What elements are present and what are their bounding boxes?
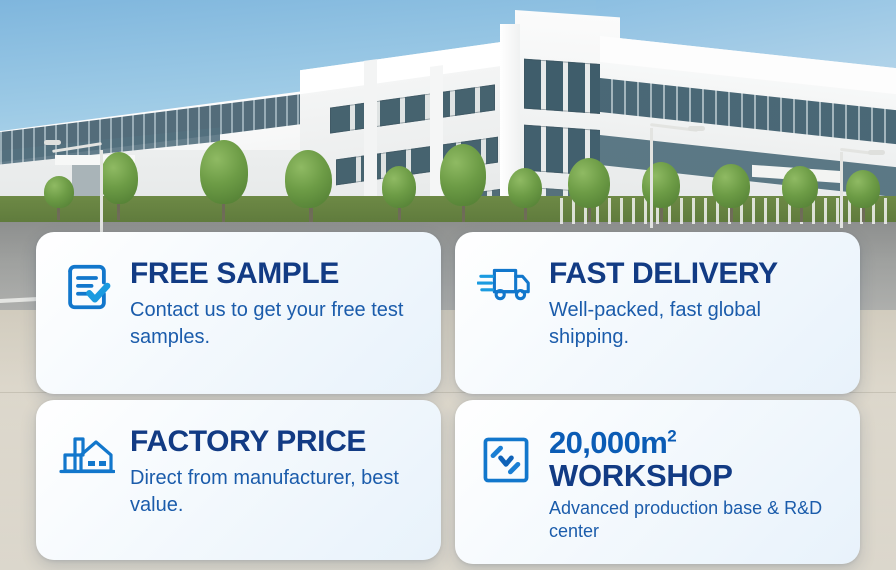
card-description: Contact us to get your free test samples…	[130, 297, 421, 350]
card-description: Direct from manufacturer, best value.	[130, 465, 421, 518]
feature-card-fast-delivery[interactable]: FAST DELIVERY Well-packed, fast global s…	[455, 232, 860, 394]
tree	[200, 140, 248, 204]
card-description: Well-packed, fast global shipping.	[549, 297, 840, 350]
card-title-word: WORKSHOP	[549, 459, 840, 492]
feature-card-grid: FREE SAMPLE Contact us to get your free …	[36, 232, 860, 564]
street-lamp-head	[688, 126, 705, 131]
street-lamp-pole	[100, 150, 103, 240]
tree	[782, 166, 818, 208]
card-text-block: FACTORY PRICE Direct from manufacturer, …	[130, 426, 421, 518]
card-title: FACTORY PRICE	[130, 426, 421, 457]
card-description: Advanced production base & R&D center	[549, 497, 840, 544]
feature-card-free-sample[interactable]: FREE SAMPLE Contact us to get your free …	[36, 232, 441, 394]
tree	[712, 164, 750, 208]
street-lamp-head	[868, 150, 885, 155]
card-title: FAST DELIVERY	[549, 258, 840, 289]
card-text-block: 20,000m2 WORKSHOP Advanced production ba…	[549, 426, 840, 544]
card-text-block: FAST DELIVERY Well-packed, fast global s…	[549, 258, 840, 350]
tree	[568, 158, 610, 208]
card-title: FREE SAMPLE	[130, 258, 421, 289]
street-lamp-pole	[840, 152, 843, 228]
tree	[285, 150, 331, 208]
feature-card-workshop[interactable]: 20,000m2 WORKSHOP Advanced production ba…	[455, 400, 860, 564]
factory-icon	[58, 426, 116, 480]
street-lamp-pole	[650, 128, 653, 228]
feature-card-factory-price[interactable]: FACTORY PRICE Direct from manufacturer, …	[36, 400, 441, 560]
card-title-number: 20,000m2	[549, 426, 840, 459]
clipboard-check-icon	[58, 258, 116, 314]
tree	[846, 170, 880, 208]
promo-banner: FREE SAMPLE Contact us to get your free …	[0, 0, 896, 570]
tree	[382, 166, 416, 208]
card-text-block: FREE SAMPLE Contact us to get your free …	[130, 258, 421, 350]
tree	[44, 176, 74, 208]
tree	[508, 168, 542, 208]
card-title: 20,000m2 WORKSHOP	[549, 426, 840, 493]
workshop-area-icon	[477, 426, 535, 486]
street-lamp-head	[44, 140, 61, 145]
card-title-unit-exponent: 2	[667, 427, 676, 446]
delivery-truck-icon	[477, 258, 535, 308]
tree	[642, 162, 680, 208]
tree	[100, 152, 138, 204]
tree	[440, 144, 486, 206]
